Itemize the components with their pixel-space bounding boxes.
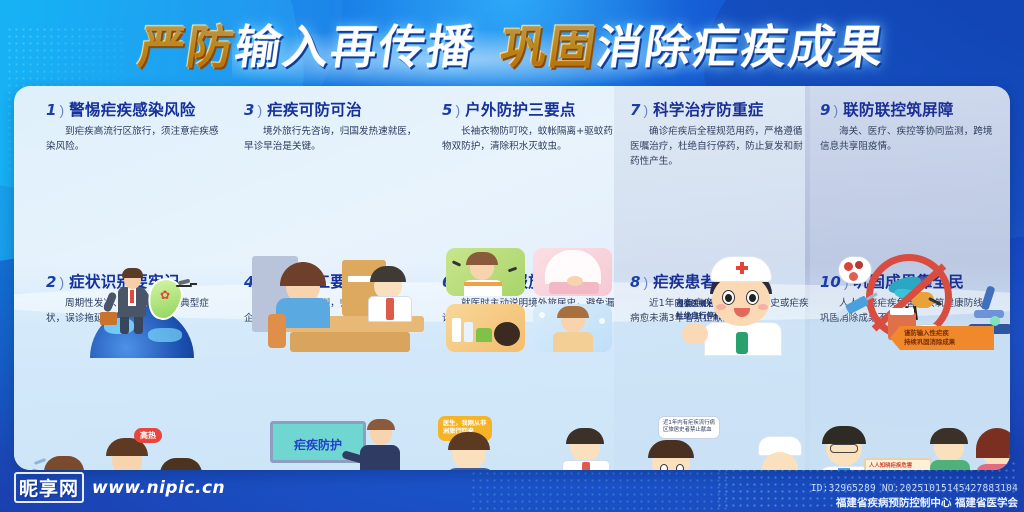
item-card-5[interactable]: 5 ) 户外防护三要点 长袖衣物防叮咬，蚊帐隔离+驱蚊药物双防护，清除积水灭蚊虫… [434, 98, 630, 155]
item-7-paren: ) [643, 102, 648, 118]
item-7-header: 7 ) 科学治疗防重症 [630, 98, 810, 120]
item-9-number: 9 [820, 101, 830, 119]
content-panel: ✿ 发冷 高热 出汗 [14, 86, 1010, 470]
item-card-6[interactable]: 6 ) 主动申报旅行史 就医时主动说明境外旅居史，避免漏诊误诊。 [434, 270, 630, 327]
item-6-headline: 主动申报旅行史 [465, 270, 576, 292]
item-1-body: 到疟疾高流行区旅行，须注意疟疾感染风险。 [46, 125, 226, 155]
item-7-body: 确诊疟疾后全程规范用药，严格遵循医嘱治疗，杜绝自行停药，防止复发和耐药性产生。 [630, 125, 810, 170]
item-4-number: 4 [244, 273, 254, 291]
items-grid: 1 ) 警惕疟疾感染风险 到疟疾高流行区旅行，须注意疟疾感染风险。 3 ) 疟疾… [14, 86, 1010, 470]
item-2-header: 2 ) 症状识别要牢记 [46, 270, 226, 292]
item-3-body: 境外旅行先咨询，归国发热速就医，早诊早治是关键。 [244, 125, 424, 155]
watermark-url: www.nipic.cn [92, 478, 225, 498]
watermark: 昵享网 www.nipic.cn [14, 472, 225, 503]
item-3-header: 3 ) 疟疾可防可治 [244, 98, 424, 120]
item-card-8[interactable]: 8 ) 疟疾患者不献血 近1年内有疟疾流行病区旅居史或疟疾病愈未满3年者禁止献血… [622, 270, 818, 327]
credit-id: ID:32965289 NO:20251015145427883104 [811, 483, 1018, 494]
item-4-body: 出国务工前培训，归国后健康监测，企业落实防疟责任。 [244, 297, 424, 327]
item-5-paren: ) [455, 102, 460, 118]
item-card-3[interactable]: 3 ) 疟疾可防可治 境外旅行先咨询，归国发热速就医，早诊早治是关键。 [236, 98, 432, 155]
item-9-paren: ) [833, 102, 838, 118]
title-part-1: 严防 [135, 16, 240, 78]
item-5-header: 5 ) 户外防护三要点 [442, 98, 622, 120]
item-2-body: 周期性发冷、高热、出汗是典型症状，误诊拖延危及生命。 [46, 297, 226, 327]
item-3-number: 3 [244, 101, 254, 119]
item-4-headline: 跨境务工要防护 [267, 270, 378, 292]
item-9-body: 海关、医疗、疾控等协同监测，跨境信息共享阻疫情。 [820, 125, 996, 155]
item-2-headline: 症状识别要牢记 [69, 270, 180, 292]
item-8-number: 8 [630, 273, 640, 291]
item-4-header: 4 ) 跨境务工要防护 [244, 270, 424, 292]
title-part-2: 输入再传播 [231, 16, 480, 78]
item-6-number: 6 [442, 273, 452, 291]
item-5-body: 长袖衣物防叮咬，蚊帐隔离+驱蚊药物双防护，清除积水灭蚊虫。 [442, 125, 622, 155]
item-10-headline: 巩固成果靠全民 [854, 270, 965, 292]
item-8-headline: 疟疾患者不献血 [653, 270, 764, 292]
item-6-header: 6 ) 主动申报旅行史 [442, 270, 622, 292]
item-10-number: 10 [820, 273, 841, 291]
item-10-paren: ) [844, 274, 849, 290]
item-8-body: 近1年内有疟疾流行病区旅居史或疟疾病愈未满3年者禁止献血。 [630, 297, 810, 327]
item-5-number: 5 [442, 101, 452, 119]
item-8-paren: ) [643, 274, 648, 290]
item-6-paren: ) [455, 274, 460, 290]
title-part-4: 消除疟疾成果 [593, 16, 890, 78]
footer-bar: 昵享网 www.nipic.cn ID:32965289 NO:20251015… [0, 470, 1024, 512]
item-1-number: 1 [46, 101, 56, 119]
credit-org: 福建省疾病预防控制中心 福建省医学会 [811, 495, 1018, 510]
item-1-paren: ) [59, 102, 64, 118]
item-3-headline: 疟疾可防可治 [267, 98, 362, 120]
poster-canvas: 严防输入再传播巩固消除疟疾成果 ✿ [0, 0, 1024, 512]
item-10-body: 人人知晓疟疾危害，共筑健康防线，巩固消除成果不松懈。 [820, 297, 996, 327]
item-2-paren: ) [59, 274, 64, 290]
item-6-body: 就医时主动说明境外旅居史，避免漏诊误诊。 [442, 297, 622, 327]
credit-block: ID:32965289 NO:20251015145427883104 福建省疾… [811, 483, 1018, 510]
item-1-headline: 警惕疟疾感染风险 [69, 98, 195, 120]
item-8-header: 8 ) 疟疾患者不献血 [630, 270, 810, 292]
watermark-logo: 昵享网 [14, 472, 84, 503]
item-card-9[interactable]: 9 ) 联防联控筑屏障 海关、医疗、疾控等协同监测，跨境信息共享阻疫情。 [812, 98, 1004, 155]
item-7-headline: 科学治疗防重症 [653, 98, 764, 120]
item-7-number: 7 [630, 101, 640, 119]
item-9-header: 9 ) 联防联控筑屏障 [820, 98, 996, 120]
item-card-7[interactable]: 7 ) 科学治疗防重症 确诊疟疾后全程规范用药，严格遵循医嘱治疗，杜绝自行停药，… [622, 98, 818, 170]
item-card-1[interactable]: 1 ) 警惕疟疾感染风险 到疟疾高流行区旅行，须注意疟疾感染风险。 [38, 98, 234, 155]
item-2-number: 2 [46, 273, 56, 291]
title-part-3: 巩固 [497, 16, 602, 78]
item-1-header: 1 ) 警惕疟疾感染风险 [46, 98, 226, 120]
item-5-headline: 户外防护三要点 [465, 98, 576, 120]
item-3-paren: ) [257, 102, 262, 118]
item-card-2[interactable]: 2 ) 症状识别要牢记 周期性发冷、高热、出汗是典型症状，误诊拖延危及生命。 [38, 270, 234, 327]
item-4-paren: ) [257, 274, 262, 290]
item-10-header: 10 ) 巩固成果靠全民 [820, 270, 996, 292]
item-card-10[interactable]: 10 ) 巩固成果靠全民 人人知晓疟疾危害，共筑健康防线，巩固消除成果不松懈。 [812, 270, 1004, 327]
poster-title: 严防输入再传播巩固消除疟疾成果 [0, 16, 1024, 78]
item-9-headline: 联防联控筑屏障 [843, 98, 954, 120]
item-card-4[interactable]: 4 ) 跨境务工要防护 出国务工前培训，归国后健康监测，企业落实防疟责任。 [236, 270, 432, 327]
